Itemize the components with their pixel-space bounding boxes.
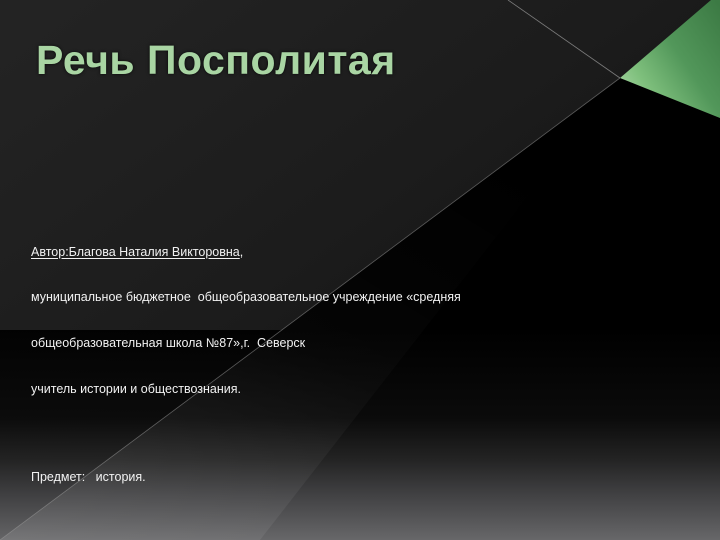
subject-value: история. — [85, 470, 145, 484]
author-label: Автор:Благова Наталия Викторовна — [31, 245, 240, 259]
subject-label: Предмет: — [31, 470, 85, 484]
subject-paragraph: Предмет: история. — [31, 446, 631, 509]
presentation-slide: Речь Посполитая Автор:Благова Наталия Ви… — [0, 0, 720, 540]
class-paragraph: Класс: 8 класс. — [31, 528, 631, 540]
slide-title: Речь Посполитая — [36, 38, 596, 84]
organization-line-1: муниципальное бюджетное общеобразователь… — [31, 290, 631, 305]
spacer-after-author — [31, 428, 631, 446]
spacer-after-subject — [31, 508, 631, 528]
slide-body-text: Автор:Благова Наталия Викторовна, муници… — [31, 214, 631, 540]
organization-line-3: учитель истории и обществознания. — [31, 382, 631, 397]
author-paragraph: Автор:Благова Наталия Викторовна, муници… — [31, 214, 631, 428]
organization-line-2: общеобразовательная школа №87»,г. Северс… — [31, 336, 631, 351]
author-comma: , — [240, 245, 243, 259]
